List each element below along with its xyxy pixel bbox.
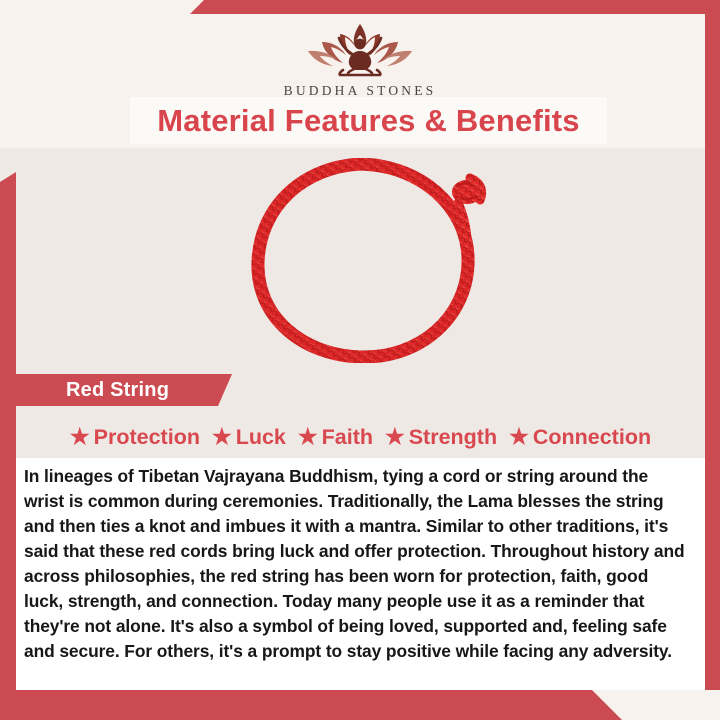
product-label-banner: Red String bbox=[16, 374, 232, 406]
title-banner: Material Features & Benefits bbox=[130, 97, 607, 144]
benefit-label: Strength bbox=[409, 425, 497, 450]
star-icon: ★ bbox=[509, 426, 529, 448]
star-icon: ★ bbox=[212, 426, 232, 448]
decorative-red-right-bar bbox=[705, 0, 720, 690]
benefits-list: ★ Protection ★ Luck ★ Faith ★ Strength ★… bbox=[16, 418, 705, 456]
benefit-item-luck: ★ Luck bbox=[206, 425, 292, 450]
star-icon: ★ bbox=[298, 426, 318, 448]
benefit-label: Faith bbox=[322, 425, 373, 450]
star-icon: ★ bbox=[70, 426, 90, 448]
product-image-area bbox=[16, 150, 705, 372]
poster-root: BUDDHA STONES Material Features & Benefi… bbox=[0, 0, 720, 720]
brand-logo: BUDDHA STONES bbox=[0, 18, 720, 99]
page-title: Material Features & Benefits bbox=[157, 103, 580, 139]
description-panel: In lineages of Tibetan Vajrayana Buddhis… bbox=[16, 458, 705, 690]
star-icon: ★ bbox=[385, 426, 405, 448]
benefit-label: Connection bbox=[533, 425, 651, 450]
description-text: In lineages of Tibetan Vajrayana Buddhis… bbox=[24, 464, 687, 665]
benefit-label: Protection bbox=[94, 425, 200, 450]
product-label-text: Red String bbox=[66, 379, 169, 402]
lotus-meditation-icon bbox=[296, 18, 424, 80]
benefit-item-faith: ★ Faith bbox=[292, 425, 379, 450]
benefit-item-strength: ★ Strength bbox=[379, 425, 503, 450]
benefit-item-connection: ★ Connection bbox=[503, 425, 657, 450]
benefit-item-protection: ★ Protection bbox=[64, 425, 206, 450]
decorative-red-left-bar bbox=[0, 172, 16, 720]
red-string-bracelet-image bbox=[244, 158, 494, 363]
benefit-label: Luck bbox=[236, 425, 286, 450]
